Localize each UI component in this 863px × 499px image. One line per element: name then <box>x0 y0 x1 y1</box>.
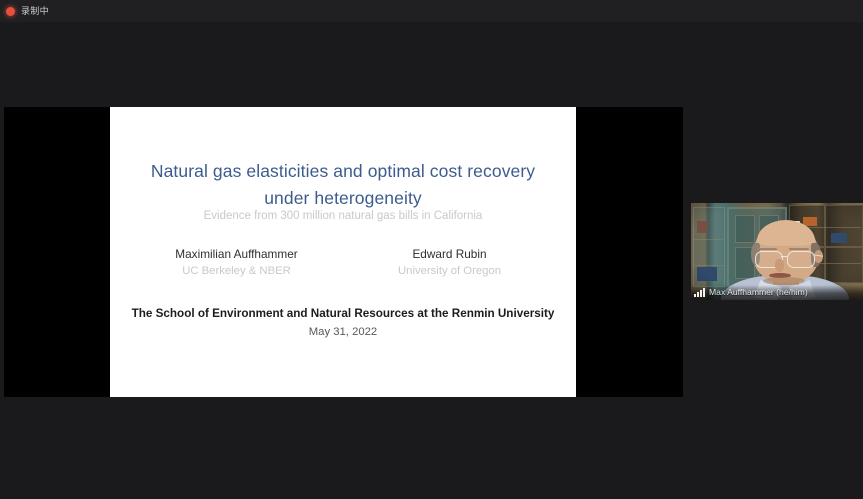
slide-date: May 31, 2022 <box>124 324 562 340</box>
author-name: Maximilian Auffhammer <box>130 246 343 262</box>
slide-venue: The School of Environment and Natural Re… <box>124 306 562 322</box>
author-affiliation: UC Berkeley & NBER <box>130 263 343 279</box>
participant-name-label: Max Auffhammer (he/him) <box>709 288 808 297</box>
shared-screen-stage[interactable]: Natural gas elasticities and optimal cos… <box>4 107 683 397</box>
slide-subtitle: Evidence from 300 million natural gas bi… <box>144 208 542 224</box>
author-affiliation: University of Oregon <box>343 263 556 279</box>
author-block-1: Maximilian Auffhammer UC Berkeley & NBER <box>130 246 343 279</box>
recording-status-label: 录制中 <box>21 7 49 16</box>
slide-title: Natural gas elasticities and optimal cos… <box>144 158 542 212</box>
recording-indicator-icon <box>6 7 15 16</box>
presentation-slide[interactable]: Natural gas elasticities and optimal cos… <box>110 107 576 397</box>
slide-authors: Maximilian Auffhammer UC Berkeley & NBER… <box>130 246 556 279</box>
slide-content: Natural gas elasticities and optimal cos… <box>110 107 576 397</box>
author-name: Edward Rubin <box>343 246 556 262</box>
participant-name-strip: Max Auffhammer (he/him) <box>691 285 863 300</box>
signal-bars-icon <box>694 288 705 297</box>
recording-status-bar: 录制中 <box>0 0 863 22</box>
meeting-window: 录制中 Natural gas elasticities and optimal… <box>0 0 863 499</box>
participant-video-tile[interactable]: Max Auffhammer (he/him) <box>691 203 863 300</box>
author-block-2: Edward Rubin University of Oregon <box>343 246 556 279</box>
